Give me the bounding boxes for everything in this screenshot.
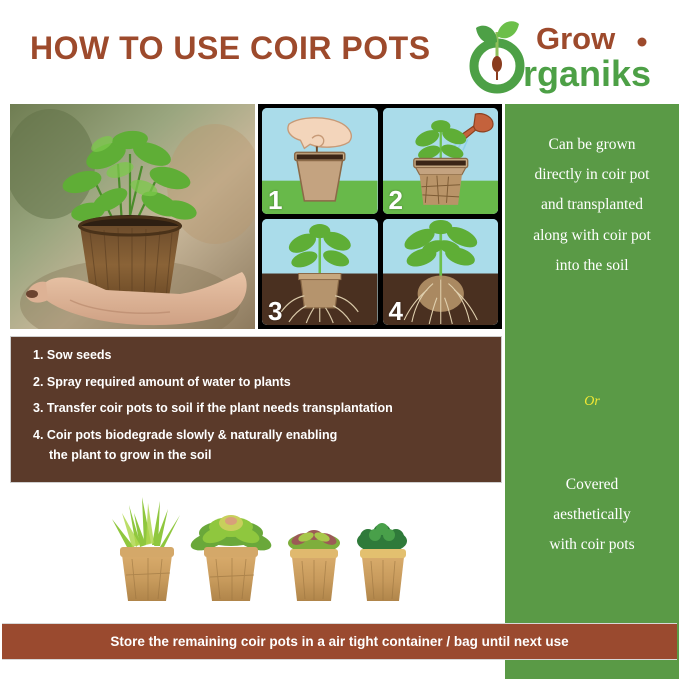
green-line: aesthetically	[505, 500, 679, 530]
instructions-box: 1. Sow seeds 2. Spray required amount of…	[10, 336, 502, 483]
spacer-below-banner	[0, 660, 505, 679]
step-number: 3	[268, 298, 282, 325]
svg-text:rganiks: rganiks	[523, 53, 651, 94]
green-line: with coir pots	[505, 530, 679, 560]
instructions-list: 1. Sow seeds 2. Spray required amount of…	[33, 347, 501, 463]
infographic-page: HOW TO USE COIR POTS Grow rganiks	[0, 0, 679, 679]
page-title: HOW TO USE COIR POTS	[30, 30, 431, 67]
step-panel-3: 3	[262, 219, 378, 325]
step-number: 4	[389, 298, 403, 325]
step-panel-1: 1	[262, 108, 378, 214]
left-column: 1	[10, 104, 502, 617]
step-number: 2	[389, 187, 403, 214]
storage-banner-text: Store the remaining coir pots in a air t…	[110, 634, 568, 649]
header: HOW TO USE COIR POTS Grow rganiks	[0, 0, 679, 100]
steps-grid: 1	[258, 104, 502, 329]
green-line: Can be grown	[505, 130, 679, 160]
instruction-item-3: 3. Transfer coir pots to soil if the pla…	[33, 400, 501, 416]
media-row: 1	[10, 104, 502, 329]
green-line: and transplanted	[505, 190, 679, 220]
instruction-item-1: 1. Sow seeds	[33, 347, 501, 363]
coir-pot-photo	[10, 104, 255, 329]
green-line: into the soil	[505, 251, 679, 281]
green-line: Covered	[505, 470, 679, 500]
green-panel-divider: Or	[505, 394, 679, 410]
svg-text:Grow: Grow	[536, 21, 616, 56]
pot-1	[112, 497, 180, 601]
green-panel-block-2: Covered aesthetically with coir pots	[505, 470, 679, 561]
seedling-icon	[474, 21, 520, 89]
pot-4	[357, 523, 407, 601]
step-number: 1	[268, 187, 282, 214]
pot-2	[188, 515, 273, 601]
green-line: directly in coir pot	[505, 160, 679, 190]
instruction-item-4-text: 4. Coir pots biodegrade slowly & natural…	[33, 428, 337, 442]
instruction-item-4: 4. Coir pots biodegrade slowly & natural…	[33, 427, 501, 463]
brand-logo: Grow rganiks	[466, 14, 666, 94]
green-panel-block-1: Can be grown directly in coir pot and tr…	[505, 130, 679, 281]
storage-banner: Store the remaining coir pots in a air t…	[2, 623, 677, 660]
instruction-item-2: 2. Spray required amount of water to pla…	[33, 374, 501, 390]
green-info-panel: Can be grown directly in coir pot and tr…	[505, 104, 679, 679]
step-panel-4: 4	[383, 219, 499, 325]
step-panel-2: 2	[383, 108, 499, 214]
instruction-item-4-continuation: the plant to grow in the soil	[33, 447, 501, 463]
pot-3	[288, 530, 340, 601]
green-line: along with coir pot	[505, 221, 679, 251]
pots-showcase	[10, 489, 502, 617]
